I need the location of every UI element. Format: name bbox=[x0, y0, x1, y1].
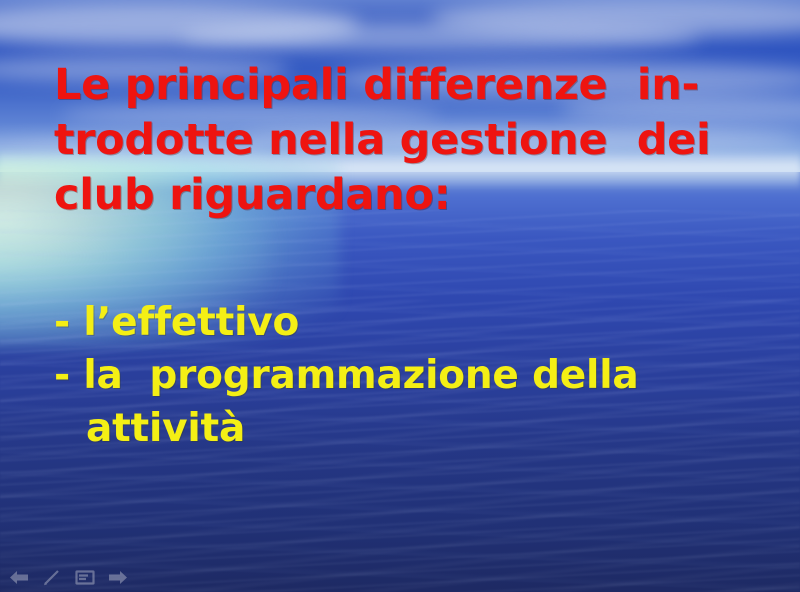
previous-slide-button[interactable] bbox=[8, 569, 30, 586]
slide-title: Le principali differenze in- trodotte ne… bbox=[54, 58, 754, 223]
title-line-1: Le principali differenze in- bbox=[54, 58, 754, 113]
list-menu-icon bbox=[75, 570, 95, 585]
slide-navigation-bar bbox=[8, 569, 129, 586]
arrow-left-icon bbox=[9, 570, 29, 585]
pen-tool-button[interactable] bbox=[41, 569, 63, 586]
bullet-item-programmazione-continued: attività bbox=[54, 402, 774, 455]
arrow-right-icon bbox=[108, 570, 128, 585]
pen-icon bbox=[43, 570, 61, 586]
slide-menu-button[interactable] bbox=[74, 569, 96, 586]
slide-bullet-list: - l’effettivo - la programmazione della … bbox=[54, 296, 774, 455]
bullet-item-programmazione: - la programmazione della bbox=[54, 349, 774, 402]
title-line-2: trodotte nella gestione dei bbox=[54, 113, 754, 168]
title-line-3: club riguardano: bbox=[54, 168, 754, 223]
presentation-slide: Le principali differenze in- trodotte ne… bbox=[0, 0, 800, 592]
next-slide-button[interactable] bbox=[107, 569, 129, 586]
slide-content: Le principali differenze in- trodotte ne… bbox=[0, 0, 800, 592]
bullet-item-effettivo: - l’effettivo bbox=[54, 296, 774, 349]
